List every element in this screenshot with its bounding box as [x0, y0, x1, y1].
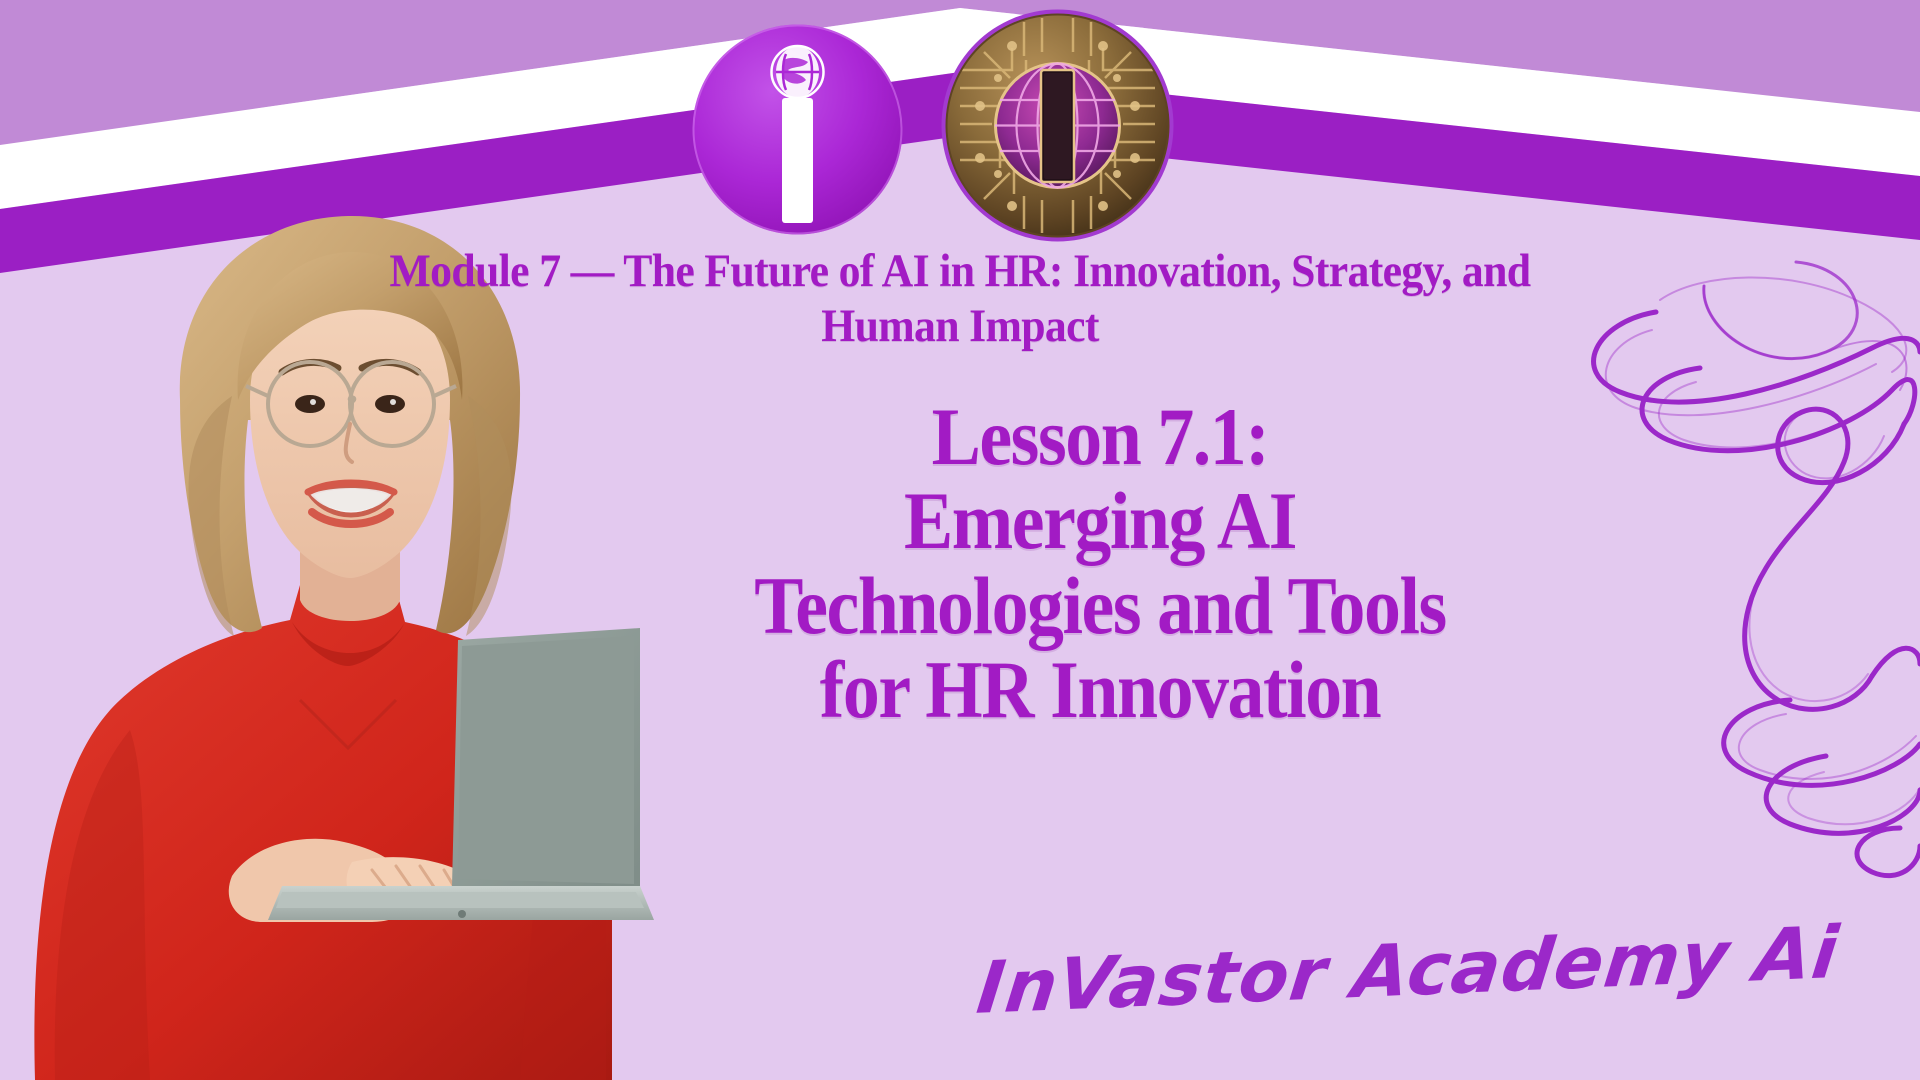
- lesson-title: Lesson 7.1: Emerging AI Technologies and…: [650, 395, 1550, 733]
- invastor-medallion-logo[interactable]: [940, 8, 1175, 243]
- lesson-title-line-1: Lesson 7.1:: [650, 395, 1550, 479]
- invastor-circle-logo[interactable]: [690, 22, 905, 237]
- module-title-line2: Human Impact: [821, 300, 1099, 352]
- globe-icon: [772, 46, 824, 98]
- lesson-title-line-2: Emerging AI: [650, 479, 1550, 563]
- module-title-line1: Module 7 — The Future of AI in HR: Innov…: [390, 245, 1531, 297]
- lesson-title-line-4: for HR Innovation: [650, 648, 1550, 732]
- lesson-title-line-3: Technologies and Tools: [650, 564, 1550, 648]
- circuit-globe-icon: [995, 64, 1120, 188]
- module-title: Module 7 — The Future of AI in HR: Innov…: [235, 244, 1686, 355]
- slide-canvas: Module 7 — The Future of AI in HR: Innov…: [0, 0, 1920, 1080]
